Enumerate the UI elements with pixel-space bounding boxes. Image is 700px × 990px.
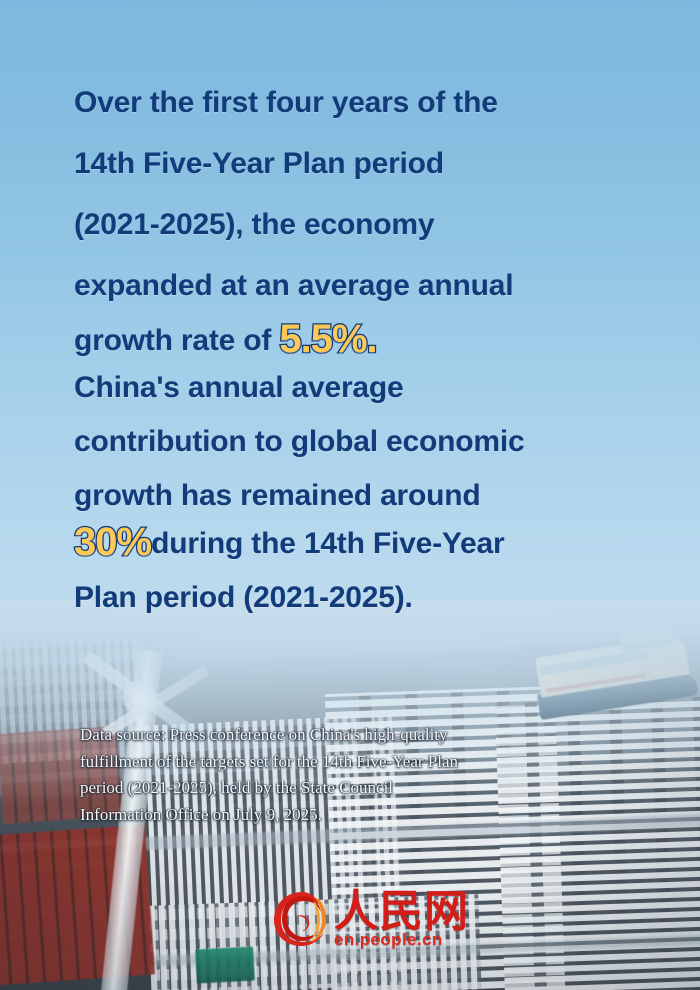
caption-line-1: Data source: Press conference on China's… [80,722,625,749]
headline-growth-prefix: growth rate of [74,324,279,357]
headline-block: Over the first four years of the 14th Fi… [74,72,634,628]
headline-line-6: China's annual average [74,364,634,411]
highlight-growth-rate: 5.5%. [279,316,376,363]
headline-line-7: contribution to global economic [74,411,634,472]
peoples-daily-online-logo[interactable]: 人民网 en.people.cn [272,890,447,952]
headline-line-9: 30%during the 14th Five-Year [74,519,634,567]
highlight-global-share: 30% [74,519,151,566]
headline-line-1: Over the first four years of the [74,72,634,133]
headline-line-4: expanded at an average annual [74,255,634,316]
caption-line-3: period (2021-2025), held by the State Co… [80,775,625,802]
caption-line-4: Information Office on July 9, 2025. [80,802,625,829]
headline-line-3: (2021-2025), the economy [74,194,634,255]
headline-during-text: during the 14th Five-Year [151,527,504,560]
logo-url-text[interactable]: en.people.cn [334,930,443,950]
headline-line-10: Plan period (2021-2025). [74,567,634,628]
caption-line-2: fulfillment of the targets set for the 1… [80,749,625,776]
infographic-poster: Over the first four years of the 14th Fi… [0,0,700,990]
headline-line-5: growth rate of 5.5%. [74,316,634,364]
logo-chinese-name: 人民网 [334,888,469,936]
headline-line-8: growth has remained around [74,472,634,519]
people-cn-swoosh-icon [272,890,332,948]
headline-line-2: 14th Five-Year Plan period [74,133,634,194]
data-source-caption: Data source: Press conference on China's… [80,722,625,828]
